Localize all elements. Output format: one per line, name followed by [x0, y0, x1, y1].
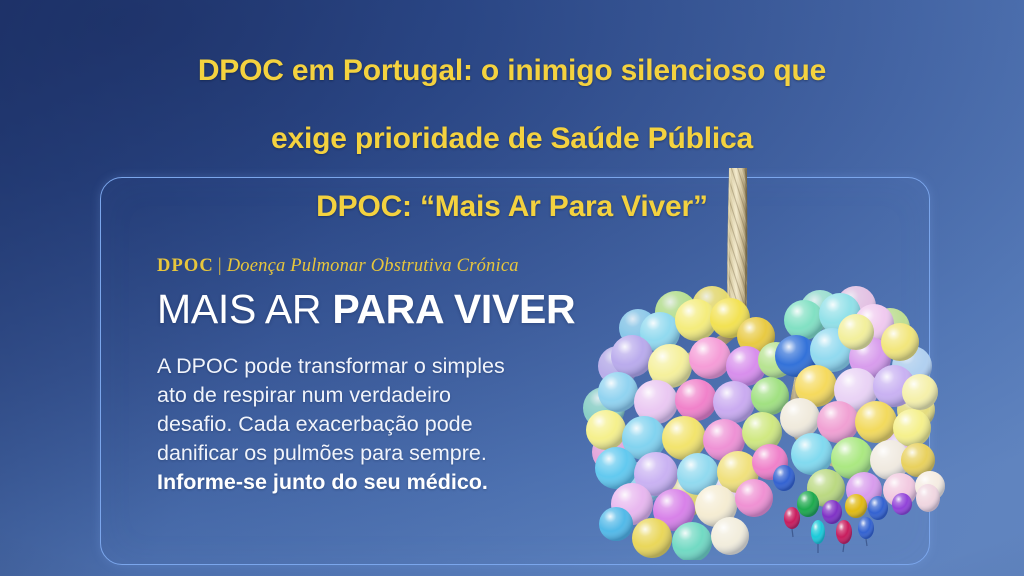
body-line-3: desafio. Cada exacerbação pode [157, 410, 577, 439]
slogan: MAIS AR PARA VIVER [157, 286, 577, 332]
body-line-2: ato de respirar num verdadeiro [157, 381, 577, 410]
poster-canvas: DPOC em Portugal: o inimigo silencioso q… [0, 0, 1024, 576]
headline-line-1: DPOC em Portugal: o inimigo silencioso q… [0, 54, 1024, 88]
body-copy: A DPOC pode transformar o simples ato de… [157, 352, 577, 497]
call-to-action: Informe-se junto do seu médico. [157, 468, 577, 497]
body-line-4: danificar os pulmões para sempre. [157, 439, 577, 468]
slogan-light-part: MAIS AR [157, 286, 332, 332]
slogan-bold-part: PARA VIVER [332, 286, 575, 332]
headline-line-2: exige prioridade de Saúde Pública [0, 122, 1024, 156]
brand-full-name: Doença Pulmonar Obstrutiva Crónica [227, 256, 519, 276]
brand-abbreviation: DPOC [157, 256, 214, 276]
brand-separator: | [214, 256, 227, 276]
card-text-block: DPOC|Doença Pulmonar Obstrutiva Crónica … [157, 256, 577, 497]
body-line-1: A DPOC pode transformar o simples [157, 352, 577, 381]
brand-line: DPOC|Doença Pulmonar Obstrutiva Crónica [157, 256, 577, 277]
